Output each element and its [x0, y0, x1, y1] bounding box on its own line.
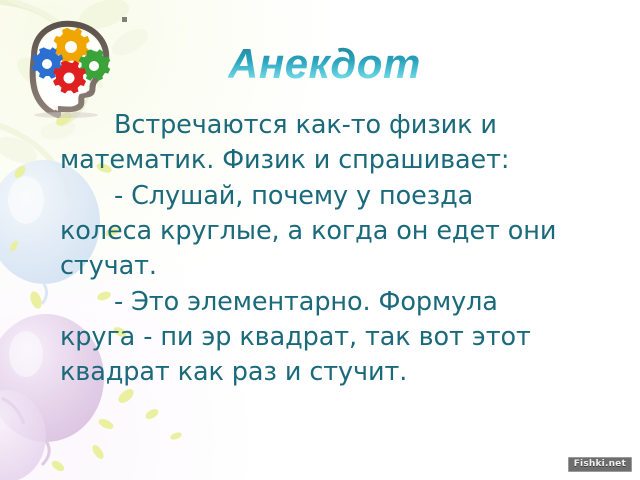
speck-mark — [122, 17, 127, 22]
watermark: Fishki.net — [568, 457, 632, 472]
joke-slide: Анекдот Встречаются как-то физик и матем… — [0, 0, 640, 480]
balloon-pink-secondary — [0, 390, 46, 480]
joke-paragraph-1: Встречаются как-то физик и математик. Фи… — [60, 108, 570, 178]
brain-gears-head-icon — [14, 16, 122, 120]
watermark-label: Fishki.net — [574, 460, 626, 469]
joke-paragraph-3: - Это элементарно. Формула круга - пи эр… — [60, 285, 570, 390]
joke-paragraph-2: - Слушай, почему у поезда колеса круглые… — [60, 179, 570, 284]
page-title: Анекдот — [228, 42, 518, 86]
joke-body: Встречаются как-то физик и математик. Фи… — [60, 108, 570, 390]
